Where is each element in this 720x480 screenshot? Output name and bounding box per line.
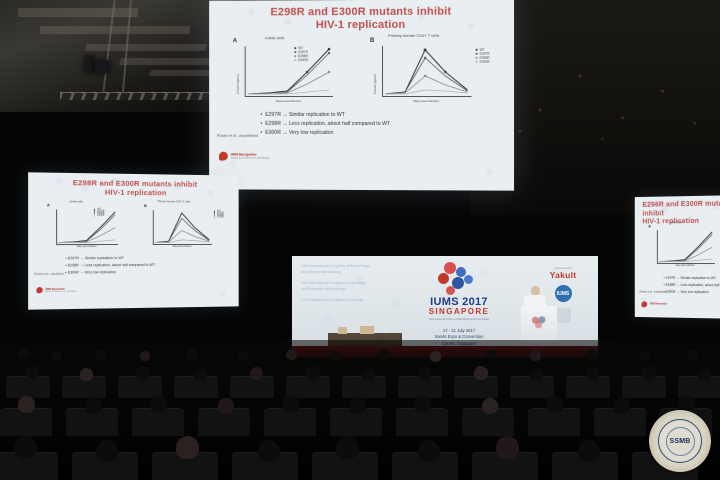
table-bottle — [384, 324, 386, 333]
chart-panel-a-right: A Jurkat cells Days post-infection — [648, 221, 720, 272]
bullet-item: • E298R → Less replication, about half c… — [664, 283, 720, 288]
chart-lines-a — [246, 46, 333, 96]
slide-citation: Rosato et al., unpublished — [217, 134, 258, 138]
main-projection-screen: E298R and E300R mutants inhibit HIV-1 re… — [209, 0, 514, 191]
event-city: SINGAPORE — [422, 308, 496, 317]
bullet-item: • E300R → Very low replication — [261, 130, 391, 136]
audience — [0, 340, 720, 480]
left-side-screen: E298R and E300R mutants inhibit HIV-1 re… — [28, 172, 239, 309]
table-box — [360, 326, 374, 334]
bullet-item: • E300R → Very low replication — [65, 270, 155, 275]
bullet-item: • E298R → Less replication, about half c… — [65, 263, 155, 268]
chart-legend-b: WT E297R E298R E300R — [476, 48, 490, 64]
podium-logo — [527, 313, 551, 331]
institution-logo-mark — [36, 287, 42, 293]
slide-title-line1: E298R and E300R mutants inhibit — [209, 5, 514, 20]
institution-logo-left: IRIM Montpellier Institut de Recherche e… — [36, 287, 76, 294]
slide-title-line2: HIV-1 replication — [209, 19, 514, 33]
figure-panels-left: A Jurkat cells Days post-infection WT E2… — [47, 201, 227, 254]
iums-logo-block: IUMS 2017 SINGAPORE International Union … — [422, 262, 496, 346]
congress-list: 15th International Congress of Bacteriol… — [301, 264, 371, 309]
congress-item: 15th International Congress of Bacteriol… — [301, 264, 371, 276]
conference-hall-scene: E298R and E300R mutants inhibit HIV-1 re… — [0, 0, 720, 480]
institution-logo-mark — [219, 152, 228, 161]
ssmb-acronym: SSMB — [666, 427, 695, 456]
event-subtitle: International Union of Microbiological S… — [422, 318, 496, 322]
sponsor-badge: IUMS — [555, 285, 572, 302]
chart-axes-b — [382, 46, 472, 97]
right-side-screen: E298R and E300R mutants inhibit HIV-1 re… — [635, 195, 720, 319]
ssmb-badge: SSMB — [649, 410, 711, 472]
table-bottle — [352, 323, 354, 333]
bullet-item: • E300R → Very low replication — [664, 290, 720, 295]
stage-spotlight — [95, 60, 109, 73]
congress-item: 15th International Congress of Mycology … — [301, 281, 371, 293]
chart-axes-a — [245, 46, 333, 97]
chart-panel-a-left: A Jurkat cells Days post-infection WT E2… — [47, 201, 134, 254]
congress-item: 17th International Congress of Virology — [301, 298, 371, 304]
chart-panel-b: B Primary human CD4+ T cells CAp24 (ng/m… — [370, 36, 495, 108]
ceiling — [0, 0, 230, 112]
bullet-item: • E297R → Similar replication to WT — [65, 256, 155, 260]
slide-bullets: • E297R → Similar replication to WT • E2… — [261, 112, 391, 139]
figure-panels: A Jurkat cells CAp24 (ng/mL) Days post-i… — [233, 36, 495, 108]
chart-legend-a: WT E297R E298R E300R — [294, 46, 308, 62]
bullet-item: • E298R → Less replication, about half c… — [261, 121, 391, 127]
figure-panels-right: A Jurkat cells Days post-infection — [648, 221, 720, 272]
ssmb-ring: SSMB — [658, 419, 702, 463]
chart-lines-b — [383, 46, 472, 96]
slide-title: E298R and E300R mutants inhibit HIV-1 re… — [209, 5, 514, 33]
lighting-truss — [60, 92, 220, 100]
institution-logo: IRIM Montpellier Institut de Recherche e… — [219, 152, 270, 161]
stage-spotlight — [84, 56, 95, 72]
podium — [521, 306, 557, 342]
chart-panel-a: A Jurkat cells CAp24 (ng/mL) Days post-i… — [233, 36, 356, 108]
bullet-item: • E297R → Similar replication to WT — [261, 112, 391, 118]
slide-title-left: E298R and E300R mutants inhibit HIV-1 re… — [28, 177, 239, 198]
bullet-item: • E297R → Similar replication to WT — [664, 276, 720, 281]
institution-logo-right: IRIM Montpellier — [641, 301, 667, 307]
iums-molecule-icon — [422, 262, 496, 295]
sponsor-name: Yakult — [536, 270, 590, 280]
table-box — [338, 327, 347, 334]
chart-panel-b-left: B Primary human CD4+ T cells Days post-i… — [144, 202, 227, 254]
sponsor-secondary-badge — [556, 308, 571, 323]
institution-logo-mark — [641, 301, 647, 307]
